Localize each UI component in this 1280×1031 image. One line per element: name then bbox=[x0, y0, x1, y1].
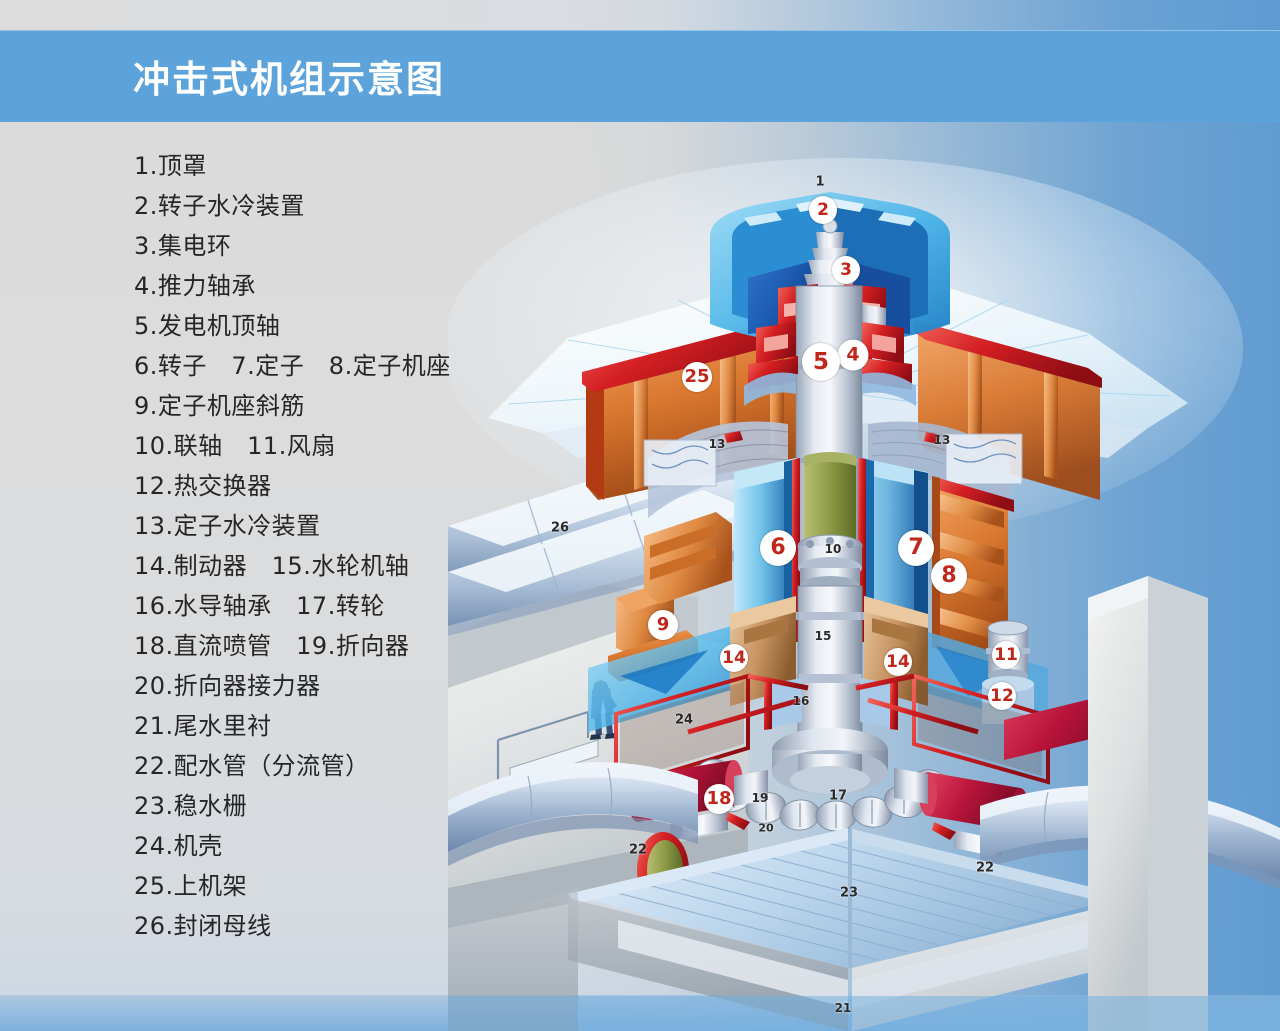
callout-badge-18: 18 bbox=[704, 784, 734, 814]
legend-line: 5.发电机顶轴 bbox=[134, 306, 554, 346]
callout-badge-7: 7 bbox=[898, 530, 934, 566]
callout-badge-23: 23 bbox=[840, 887, 858, 900]
callout-badge-12: 12 bbox=[988, 682, 1016, 710]
legend-line: 1.顶罩 bbox=[134, 146, 554, 186]
page-title: 冲击式机组示意图 bbox=[133, 49, 445, 103]
slide-canvas: 冲击式机组示意图 1.顶罩2.转子水冷装置3.集电环4.推力轴承5.发电机顶轴6… bbox=[0, 0, 1280, 1031]
legend-line: 9.定子机座斜筋 bbox=[134, 386, 554, 426]
callout-badge-3: 3 bbox=[832, 256, 860, 284]
legend-line: 24.机壳 bbox=[134, 826, 554, 866]
legend-line: 20.折向器接力器 bbox=[134, 666, 554, 706]
callout-badge-15: 15 bbox=[815, 630, 832, 642]
legend-line: 3.集电环 bbox=[134, 226, 554, 266]
callout-badge-14: 14 bbox=[884, 648, 912, 676]
callout-badge-10: 10 bbox=[825, 543, 842, 555]
turbine-diagram-svg bbox=[448, 128, 1280, 1031]
callout-badge-17: 17 bbox=[829, 790, 847, 803]
title-banner: 冲击式机组示意图 bbox=[0, 30, 1280, 122]
callout-badge-16: 16 bbox=[793, 695, 810, 707]
legend-line: 23.稳水栅 bbox=[134, 786, 554, 826]
legend-line: 22.配水管（分流管） bbox=[134, 746, 554, 786]
legend-line: 12.热交换器 bbox=[134, 466, 554, 506]
legend-line: 21.尾水里衬 bbox=[134, 706, 554, 746]
callout-badge-21: 21 bbox=[835, 1002, 852, 1014]
turbine-cutaway-illustration: 1234525131326678101112914141516241819201… bbox=[448, 128, 1280, 1031]
callout-badge-13: 13 bbox=[934, 434, 951, 446]
legend-line: 6.转子 7.定子 8.定子机座 bbox=[134, 346, 554, 386]
legend-line: 13.定子水冷装置 bbox=[134, 506, 554, 546]
callout-badge-24: 24 bbox=[675, 714, 693, 727]
callout-badge-5: 5 bbox=[802, 343, 840, 381]
legend-line: 2.转子水冷装置 bbox=[134, 186, 554, 226]
callout-badge-6: 6 bbox=[760, 530, 796, 566]
callout-badge-2: 2 bbox=[809, 196, 837, 224]
callout-badge-22: 22 bbox=[629, 844, 647, 857]
callout-badge-14: 14 bbox=[720, 644, 748, 672]
callout-badge-13: 13 bbox=[709, 438, 726, 450]
legend-line: 25.上机架 bbox=[134, 866, 554, 906]
legend-line: 26.封闭母线 bbox=[134, 906, 554, 946]
callout-badge-22: 22 bbox=[976, 862, 994, 875]
legend-list: 1.顶罩2.转子水冷装置3.集电环4.推力轴承5.发电机顶轴6.转子 7.定子 … bbox=[134, 146, 554, 946]
legend-line: 18.直流喷管 19.折向器 bbox=[134, 626, 554, 666]
callout-badge-19: 19 bbox=[752, 792, 769, 804]
legend-line: 16.水导轴承 17.转轮 bbox=[134, 586, 554, 626]
legend-line: 14.制动器 15.水轮机轴 bbox=[134, 546, 554, 586]
callout-badge-1: 1 bbox=[815, 176, 824, 189]
callout-badge-25: 25 bbox=[682, 362, 712, 392]
legend-line: 4.推力轴承 bbox=[134, 266, 554, 306]
callout-badge-8: 8 bbox=[931, 558, 967, 594]
callout-badge-20: 20 bbox=[758, 823, 773, 834]
callout-badge-9: 9 bbox=[648, 610, 678, 640]
callout-badge-4: 4 bbox=[838, 340, 869, 371]
callout-badge-11: 11 bbox=[992, 641, 1020, 669]
legend-line: 10.联轴 11.风扇 bbox=[134, 426, 554, 466]
